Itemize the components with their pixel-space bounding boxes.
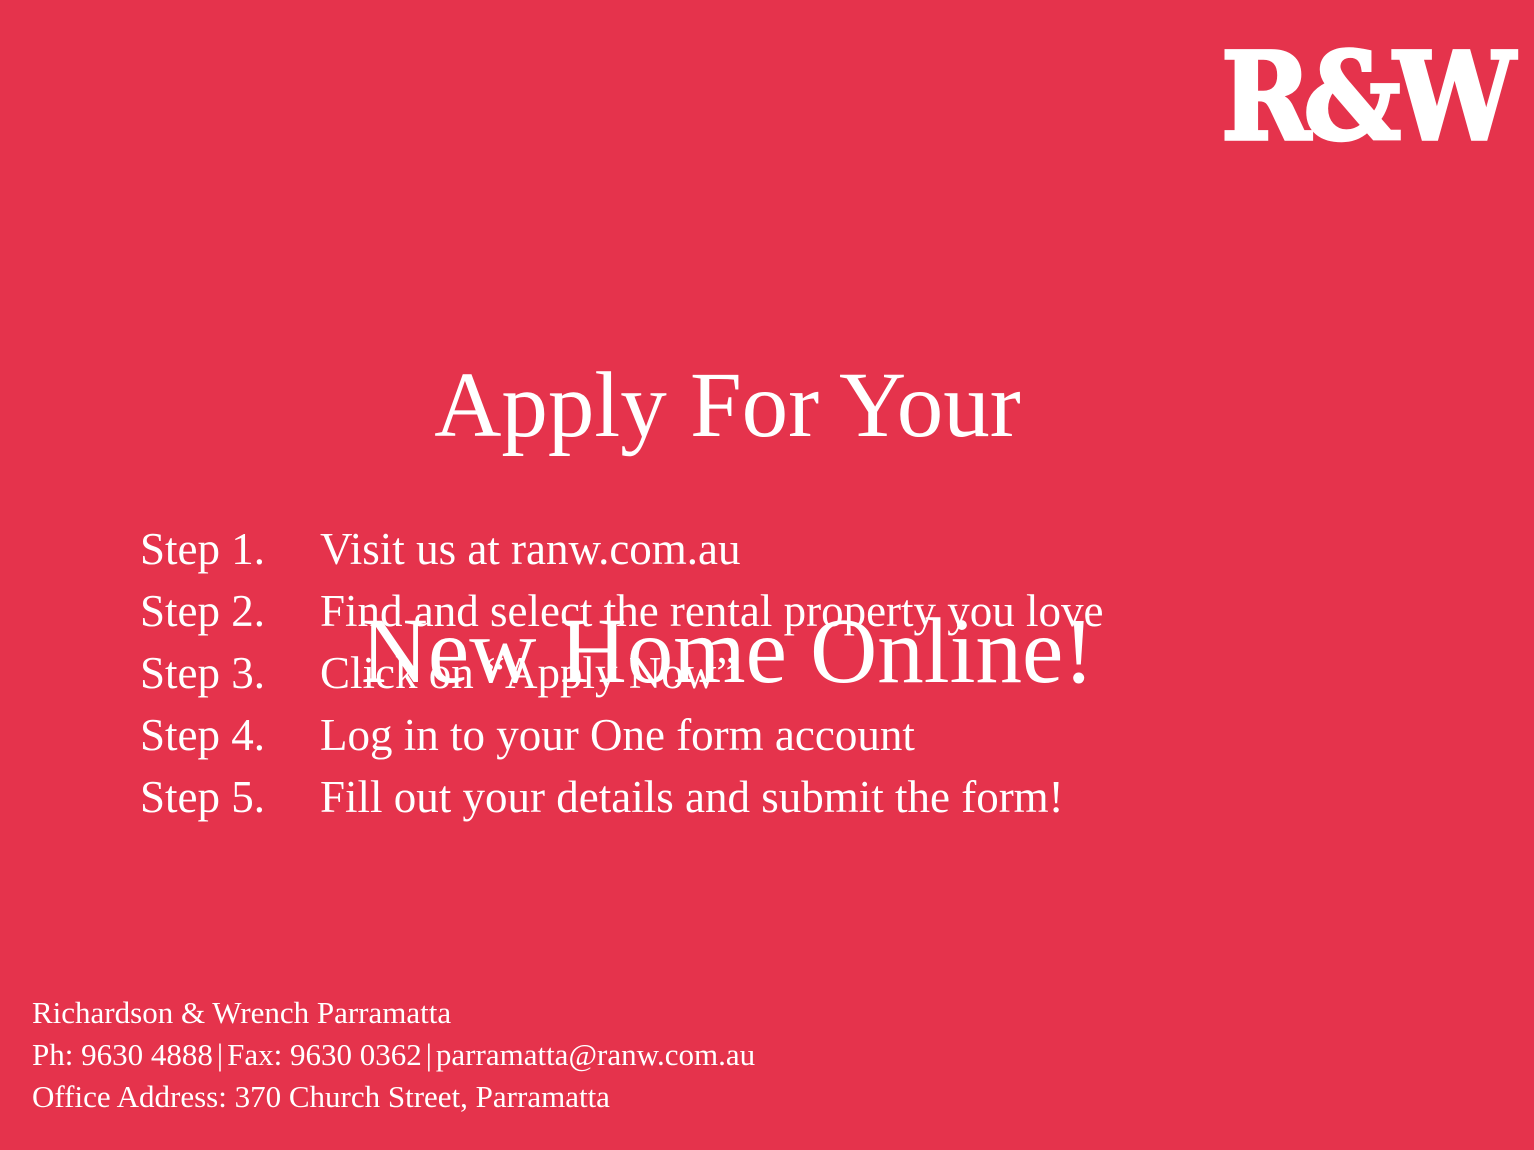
- office-address: Office Address: 370 Church Street, Parra…: [32, 1076, 755, 1118]
- page-title-line-1: Apply For Your: [0, 345, 1455, 468]
- list-item: Step 4. Log in to your One form account: [140, 704, 1400, 766]
- phone-number: Ph: 9630 4888: [32, 1037, 213, 1072]
- step-label-1: Step 1.: [140, 518, 320, 580]
- step-label-5: Step 5.: [140, 766, 320, 828]
- step-description-2: Find and select the rental property you …: [320, 580, 1400, 642]
- list-item: Step 5. Fill out your details and submit…: [140, 766, 1400, 828]
- slide-canvas: R&W Apply For Your New Home Online! Step…: [0, 0, 1534, 1150]
- fax-number: Fax: 9630 0362: [227, 1037, 422, 1072]
- list-item: Step 2. Find and select the rental prope…: [140, 580, 1400, 642]
- step-label-3: Step 3.: [140, 642, 320, 704]
- list-item: Step 3. Click on “Apply Now”: [140, 642, 1400, 704]
- step-description-1: Visit us at ranw.com.au: [320, 518, 1400, 580]
- step-label-4: Step 4.: [140, 704, 320, 766]
- rw-logo: R&W: [1208, 34, 1508, 159]
- contact-line: Ph: 9630 4888|Fax: 9630 0362|parramatta@…: [32, 1034, 755, 1076]
- separator-2: |: [422, 1037, 436, 1072]
- step-description-3: Click on “Apply Now”: [320, 642, 1400, 704]
- step-label-2: Step 2.: [140, 580, 320, 642]
- contact-footer: Richardson & Wrench Parramatta Ph: 9630 …: [32, 992, 755, 1118]
- list-item: Step 1. Visit us at ranw.com.au: [140, 518, 1400, 580]
- steps-list: Step 1. Visit us at ranw.com.au Step 2. …: [140, 518, 1400, 828]
- email-address[interactable]: parramatta@ranw.com.au: [436, 1037, 755, 1072]
- step-description-4: Log in to your One form account: [320, 704, 1400, 766]
- separator-1: |: [213, 1037, 227, 1072]
- company-name: Richardson & Wrench Parramatta: [32, 992, 755, 1034]
- step-description-5: Fill out your details and submit the for…: [320, 766, 1400, 828]
- rw-logo-text: R&W: [1221, 36, 1508, 157]
